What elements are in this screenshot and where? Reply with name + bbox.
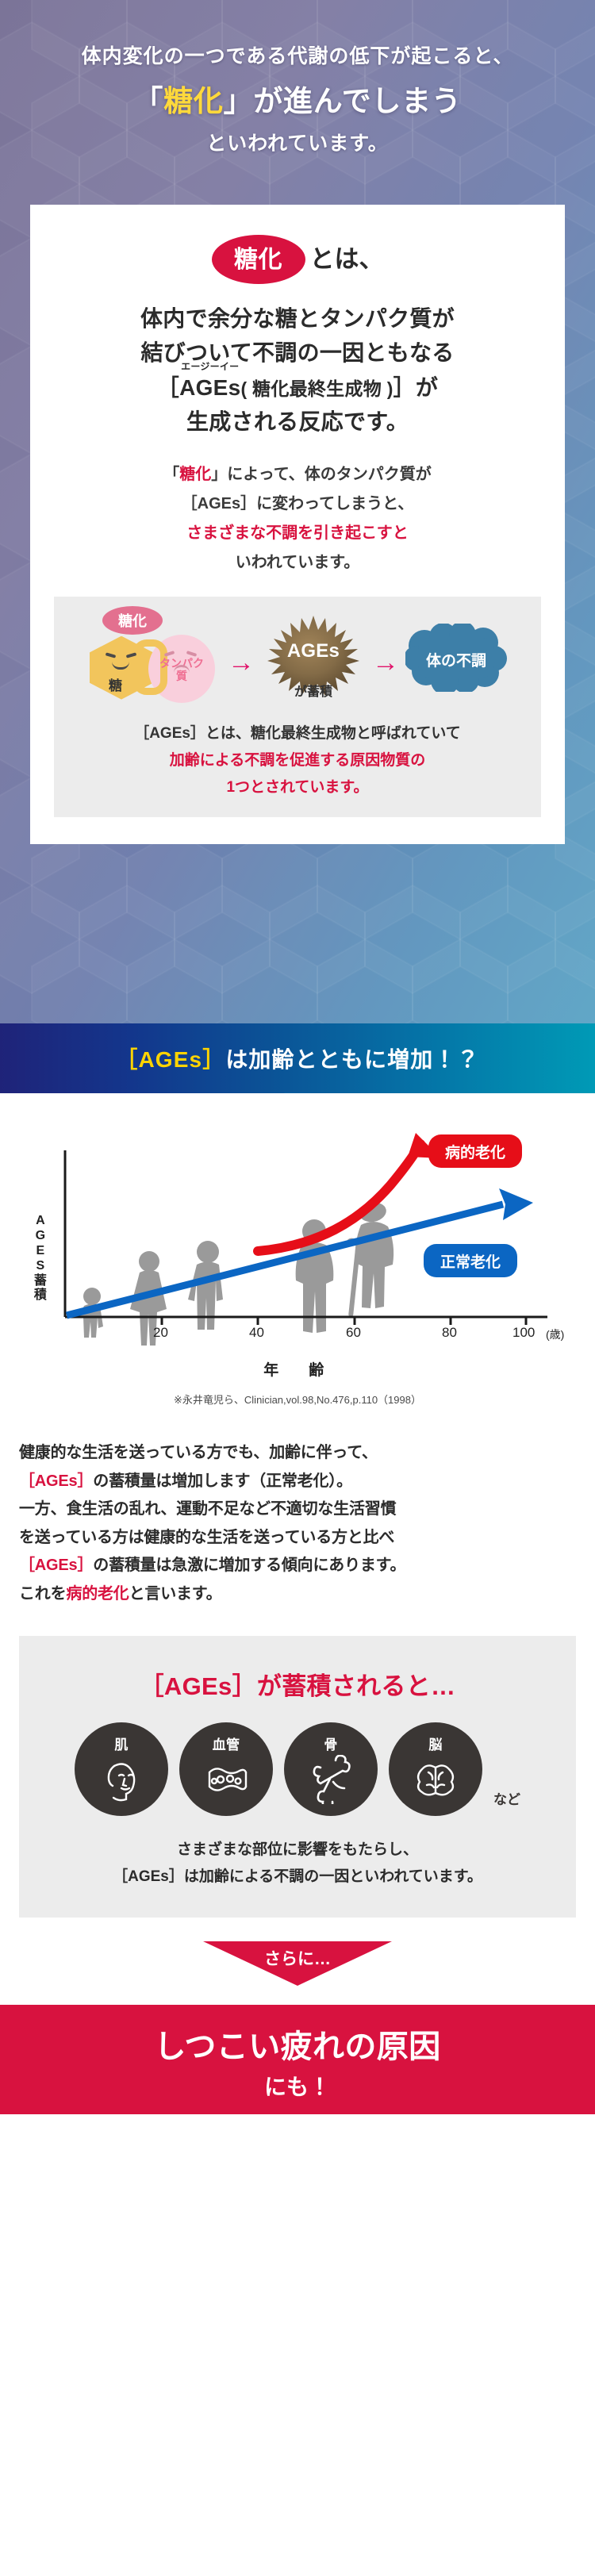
infographic-page: 体内変化の一つである代謝の低下が起こると、 「糖化」が進んでしまう といわれてい… (0, 0, 595, 2576)
lead-line-2: 結びついて不調の一因ともなる (54, 336, 541, 370)
series-pathological-aging (258, 1133, 441, 1251)
toka-pill-badge: 糖化 (212, 235, 305, 284)
card-heading-tail: とは、 (310, 246, 384, 273)
ages-ruby-group: エージーイーAGEs (179, 374, 240, 401)
flow-row: 糖化 (68, 614, 527, 703)
glycation-process-diagram: 糖化 (54, 597, 541, 818)
organ-label-brain: 脳 (428, 1733, 442, 1753)
organ-label-blood-vessel: 血管 (213, 1733, 240, 1753)
xaxis-unit: (歳) (546, 1326, 564, 1342)
effects-note: さまざまな部位に影響をもたらし、 ［AGEs］は加齢による不調の一因といわれてい… (38, 1837, 557, 1891)
diagram-note-line-1: ［AGEs］とは、糖化最終生成物と呼ばれていて (68, 720, 527, 747)
ages-starburst: AGEs が蓄積 (261, 614, 366, 703)
organ-icon-row: 肌 血管 (38, 1722, 557, 1816)
banner-title-rest: は加齢とともに増加！？ (225, 1047, 479, 1072)
hero-quote-open: 「 (133, 85, 163, 117)
organ-item-skin: 肌 (75, 1722, 168, 1816)
face-skin-icon (97, 1755, 146, 1804)
sub-quote-open: 「 (163, 466, 179, 483)
ages-ruby-reading: エージーイー (181, 361, 239, 372)
chart-plot-area: A G E S 蓄 積 (0, 1120, 595, 1390)
explain-line-6-a: これを (19, 1585, 66, 1603)
ages-label: AGEs (179, 375, 240, 400)
xtick-100: 100 (512, 1325, 535, 1341)
bone-icon (306, 1755, 355, 1804)
organ-item-bone: 骨 (284, 1722, 378, 1816)
sub-line-4: いわれています。 (54, 548, 541, 578)
xtick-20: 20 (153, 1325, 168, 1341)
chart-label-pathological-aging: 病的老化 (428, 1134, 522, 1168)
lead-line-1: 体内で余分な糖とタンパク質が (54, 301, 541, 336)
sarani-arrow-banner: さらに… (203, 1941, 392, 1986)
hero-section: 体内変化の一つである代謝の低下が起こると、 「糖化」が進んでしまう といわれてい… (0, 0, 595, 1023)
explain-line-5-rest: の蓄積量は急激に増加する傾向にあります。 (93, 1557, 405, 1574)
explain-line-2: ［AGEs］の蓄積量は増加します（正常老化）。 (19, 1468, 576, 1496)
flow-node-trouble: 体の不調 (405, 619, 507, 698)
blood-vessel-icon (202, 1755, 251, 1804)
banner-title: ［AGEs］は加齢とともに増加！？ (115, 1042, 479, 1074)
sub-line-1-tail: 」によって、体のタンパク質が (211, 466, 431, 483)
explain-line-5: ［AGEs］の蓄積量は急激に増加する傾向にあります。 (19, 1552, 576, 1580)
hero-headline-block: 体内変化の一つである代謝の低下が起こると、 「糖化」が進んでしまう といわれてい… (0, 0, 595, 159)
lead-line-3: ［エージーイーAGEs( 糖化最終生成物 )］が (54, 370, 541, 405)
sub-line-1: 「糖化」によって、体のタンパク質が (54, 460, 541, 489)
ages-accumulation-chart: A G E S 蓄 積 (0, 1093, 595, 1434)
flow-arrow-1: → (226, 649, 256, 676)
final-conclusion-banner: しつこい疲れの原因 にも！ (0, 2005, 595, 2114)
lead-line-4: 生成される反応です。 (54, 405, 541, 439)
definition-card: 糖化 とは、 体内で余分な糖とタンパク質が 結びついて不調の一因ともなる ［エー… (30, 205, 565, 844)
explain-line-4: を送っている方は健康的な生活を送っている方と比べ (19, 1524, 576, 1553)
explain-line-2-rest: の蓄積量は増加します（正常老化）。 (93, 1472, 352, 1490)
ages-paren-gloss: ( 糖化最終生成物 ) (240, 378, 393, 399)
sugar-protein-pair: 糖化 (88, 616, 221, 701)
organ-label-bone: 骨 (324, 1733, 337, 1753)
lead-line-3-tail: が (416, 375, 438, 400)
ages-bracket-open: ［ (157, 375, 179, 400)
explain-line-2-ages: ［AGEs］ (19, 1472, 93, 1490)
diagram-note: ［AGEs］とは、糖化最終生成物と呼ばれていて 加齢による不調を促進する原因物質… (68, 720, 527, 802)
xtick-40: 40 (249, 1325, 264, 1341)
diagram-note-line-3: 1つとされています。 (68, 774, 527, 801)
explain-line-6: これを病的老化と言います。 (19, 1580, 576, 1609)
card-sub-paragraph: 「糖化」によって、体のタンパク質が ［AGEs］に変わってしまうと、 さまざまな… (54, 460, 541, 578)
card-heading: 糖化 とは、 (54, 235, 541, 284)
flow-arrow-2: → (370, 649, 401, 676)
final-line-1: しつこい疲れの原因 (0, 2021, 595, 2067)
hero-line-2: 「糖化」が進んでしまう (0, 79, 595, 124)
explain-line-6-b: と言います。 (129, 1585, 222, 1603)
organ-etc-label: など (493, 1788, 520, 1816)
banner-highlight-ages: ［AGEs］ (115, 1047, 225, 1072)
organ-label-skin: 肌 (114, 1733, 128, 1753)
ages-age-banner: ［AGEs］は加齢とともに増加！？ (0, 1023, 595, 1093)
hero-line-3: といわれています。 (0, 129, 595, 159)
final-line-2: にも！ (0, 2070, 595, 2102)
organ-item-blood-vessel: 血管 (179, 1722, 273, 1816)
organ-item-brain: 脳 (389, 1722, 482, 1816)
ages-bracket-close: ］ (393, 375, 416, 400)
body-trouble-label: 体の不調 (405, 649, 507, 670)
sub-highlight-toka: 糖化 (179, 466, 211, 483)
sub-line-2: ［AGEs］に変わってしまうと、 (54, 489, 541, 519)
diagram-toka-badge: 糖化 (102, 606, 163, 635)
hero-line-2-tail: 」が進んでしまう (224, 85, 462, 117)
hero-highlight-toka: 糖化 (163, 85, 223, 117)
card-lead-paragraph: 体内で余分な糖とタンパク質が 結びついて不調の一因ともなる ［エージーイーAGE… (54, 301, 541, 440)
diagram-note-line-2: 加齢による不調を促進する原因物質の (68, 747, 527, 774)
sub-line-3: さまざまな不調を引き起こすと (54, 519, 541, 548)
hero-line-1: 体内変化の一つである代謝の低下が起こると、 (0, 41, 595, 72)
xtick-60: 60 (346, 1325, 361, 1341)
ages-burst-caption: が蓄積 (261, 681, 366, 700)
body-trouble-cloud: 体の不調 (405, 619, 507, 698)
effects-note-line-2: ［AGEs］は加齢による不調の一因といわれています。 (38, 1864, 557, 1891)
explain-line-3: 一方、食生活の乱れ、運動不足など不適切な生活習慣 (19, 1495, 576, 1524)
flow-node-reactants: 糖化 (88, 616, 221, 701)
effects-heading: ［AGEs］が蓄積されると… (38, 1666, 557, 1702)
flow-node-ages: AGEs が蓄積 (261, 614, 366, 703)
xtick-80: 80 (442, 1325, 457, 1341)
explanation-text-block: 健康的な生活を送っている方でも、加齢に伴って、 ［AGEs］の蓄積量は増加します… (0, 1434, 595, 1633)
chart-citation: ※永井竜児ら、Clinician,vol.98,No.476,p.110（199… (0, 1392, 595, 1407)
ages-burst-label: AGEs (261, 640, 366, 662)
brain-icon (411, 1755, 460, 1804)
chart-x-axis-label: 年 齢 (0, 1358, 595, 1380)
sugar-label: 糖 (109, 674, 122, 694)
ages-effects-card: ［AGEs］が蓄積されると… 肌 血管 (19, 1636, 576, 1918)
explain-line-1: 健康的な生活を送っている方でも、加齢に伴って、 (19, 1439, 576, 1468)
effects-note-line-1: さまざまな部位に影響をもたらし、 (38, 1837, 557, 1864)
explain-line-5-ages: ［AGEs］ (19, 1557, 93, 1574)
explain-line-6-highlight: 病的老化 (66, 1585, 129, 1603)
chart-label-normal-aging: 正常老化 (424, 1244, 517, 1277)
